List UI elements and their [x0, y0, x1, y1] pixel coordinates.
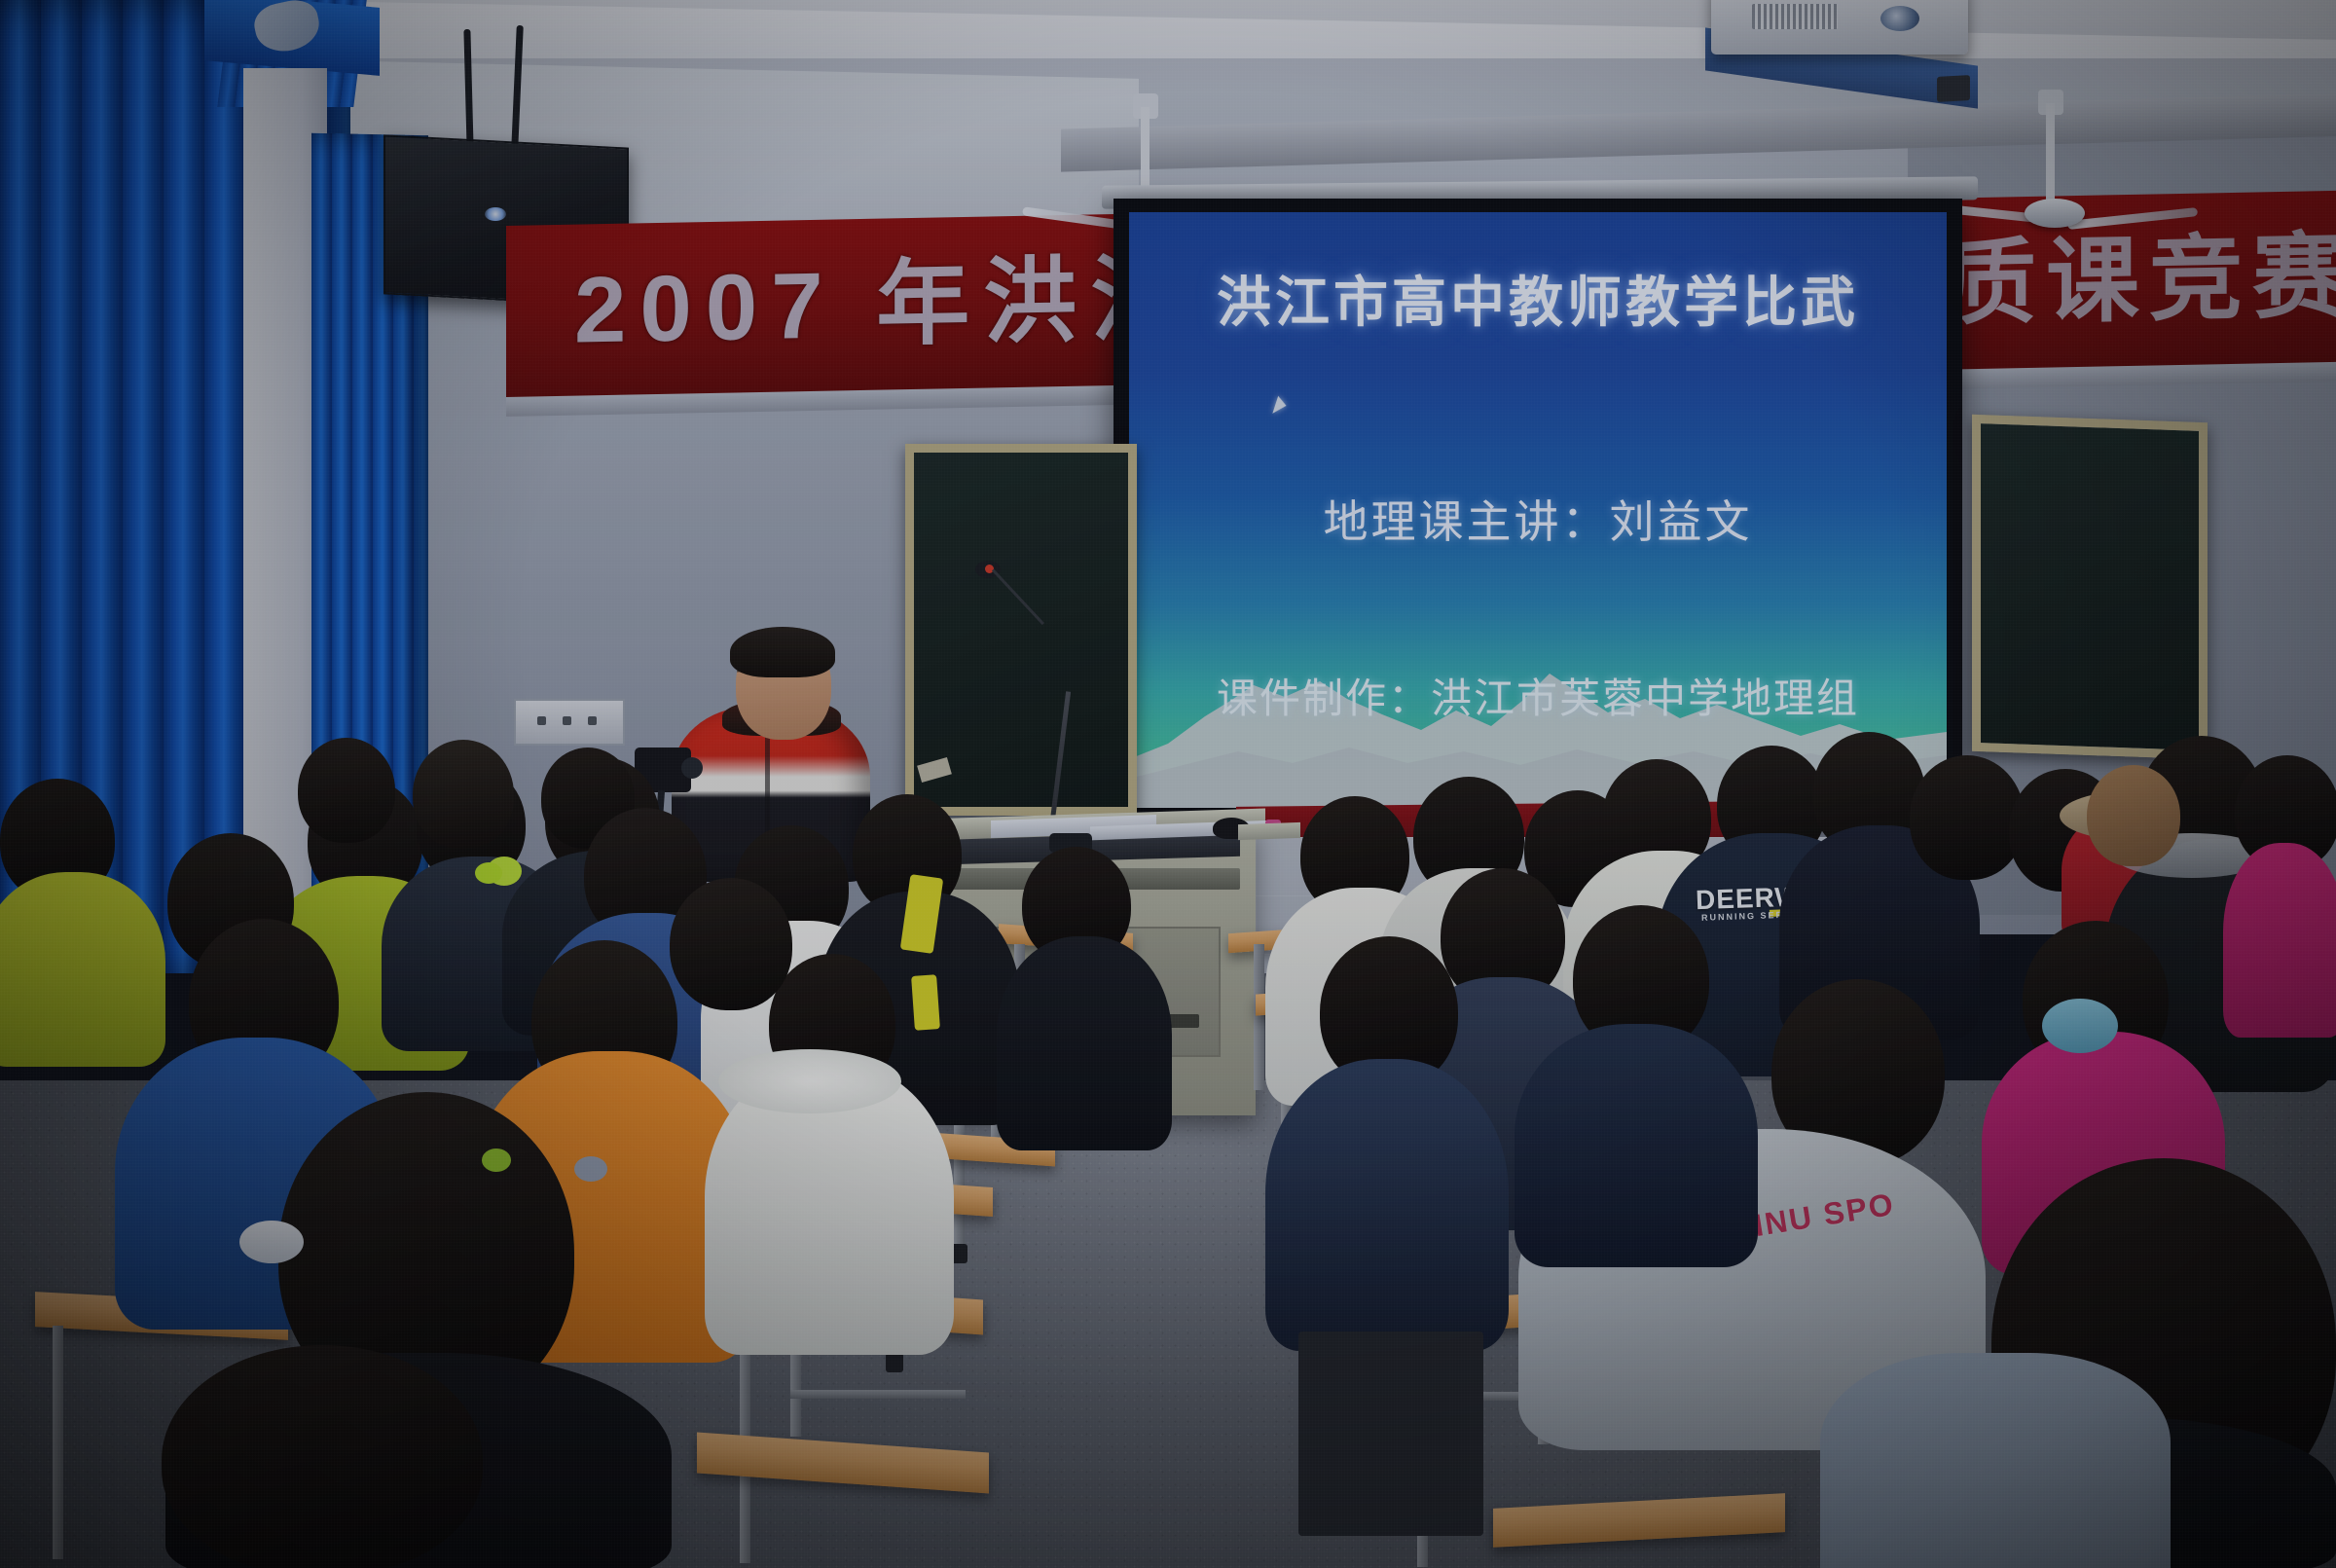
- fan-downrod: [2046, 103, 2055, 204]
- student-body: [0, 872, 165, 1067]
- student-head: [2087, 765, 2180, 866]
- projection-screen: 洪江市高中教师教学比武 地理课主讲：刘益文 课件制作：洪江市芙蓉中学地理组: [1129, 212, 1947, 808]
- fan-hub-icon: [2025, 199, 2085, 228]
- student-body: [1265, 1059, 1509, 1351]
- jacket-stripe: [911, 974, 940, 1031]
- banner-text-left: 2007 年洪江: [574, 222, 1197, 369]
- student-body: [1515, 1024, 1758, 1267]
- camera-lens-icon: [681, 757, 703, 779]
- fur-hood-trim: [718, 1049, 901, 1113]
- hair-clip: [482, 1149, 511, 1172]
- student-head: [670, 878, 792, 1010]
- desk-leg: [1254, 944, 1264, 1090]
- hair-tie: [2042, 999, 2118, 1053]
- blackboard-right: [1972, 415, 2208, 759]
- podium-side-extension: [1238, 822, 1300, 840]
- ceiling-bracket: [1937, 75, 1970, 102]
- ceiling-projector: [1711, 0, 1968, 55]
- student-shoulder-foreground: [1820, 1353, 2171, 1568]
- student-head: [413, 740, 514, 849]
- hair-clip: [574, 1156, 607, 1182]
- socket-hole-icon: [588, 716, 597, 725]
- student-body: [997, 936, 1172, 1150]
- student-head: [1910, 755, 2025, 880]
- student-body: [2223, 843, 2336, 1038]
- hair-clip: [239, 1221, 304, 1263]
- teacher-hair: [730, 627, 835, 677]
- desk-foot: [886, 1353, 903, 1372]
- student-head-foreground: [162, 1345, 483, 1568]
- projector-lens-icon: [1880, 6, 1919, 31]
- chair-back: [1298, 1331, 1483, 1536]
- student-head: [298, 738, 395, 843]
- projector-vent-icon: [1752, 4, 1838, 29]
- hair-clip: [475, 862, 502, 884]
- socket-hole-icon: [537, 716, 546, 725]
- slide-title: 洪江市高中教师教学比武: [1129, 259, 1947, 338]
- slide-credits-line: 课件制作：洪江市芙蓉中学地理组: [1129, 666, 1947, 725]
- socket-hole-icon: [563, 716, 571, 725]
- mouse-pointer-icon: [1272, 396, 1288, 417]
- slide-presenter-line: 地理课主讲：刘益文: [1129, 487, 1947, 551]
- classroom-scene: 2007 年洪江 优质课竞赛 洪江市高中教师教学比武 地理课主讲：刘益文 课件制…: [0, 0, 2336, 1568]
- desk-leg: [53, 1326, 63, 1559]
- desk-crossbar: [790, 1390, 966, 1399]
- speaker-led-icon: [485, 207, 506, 221]
